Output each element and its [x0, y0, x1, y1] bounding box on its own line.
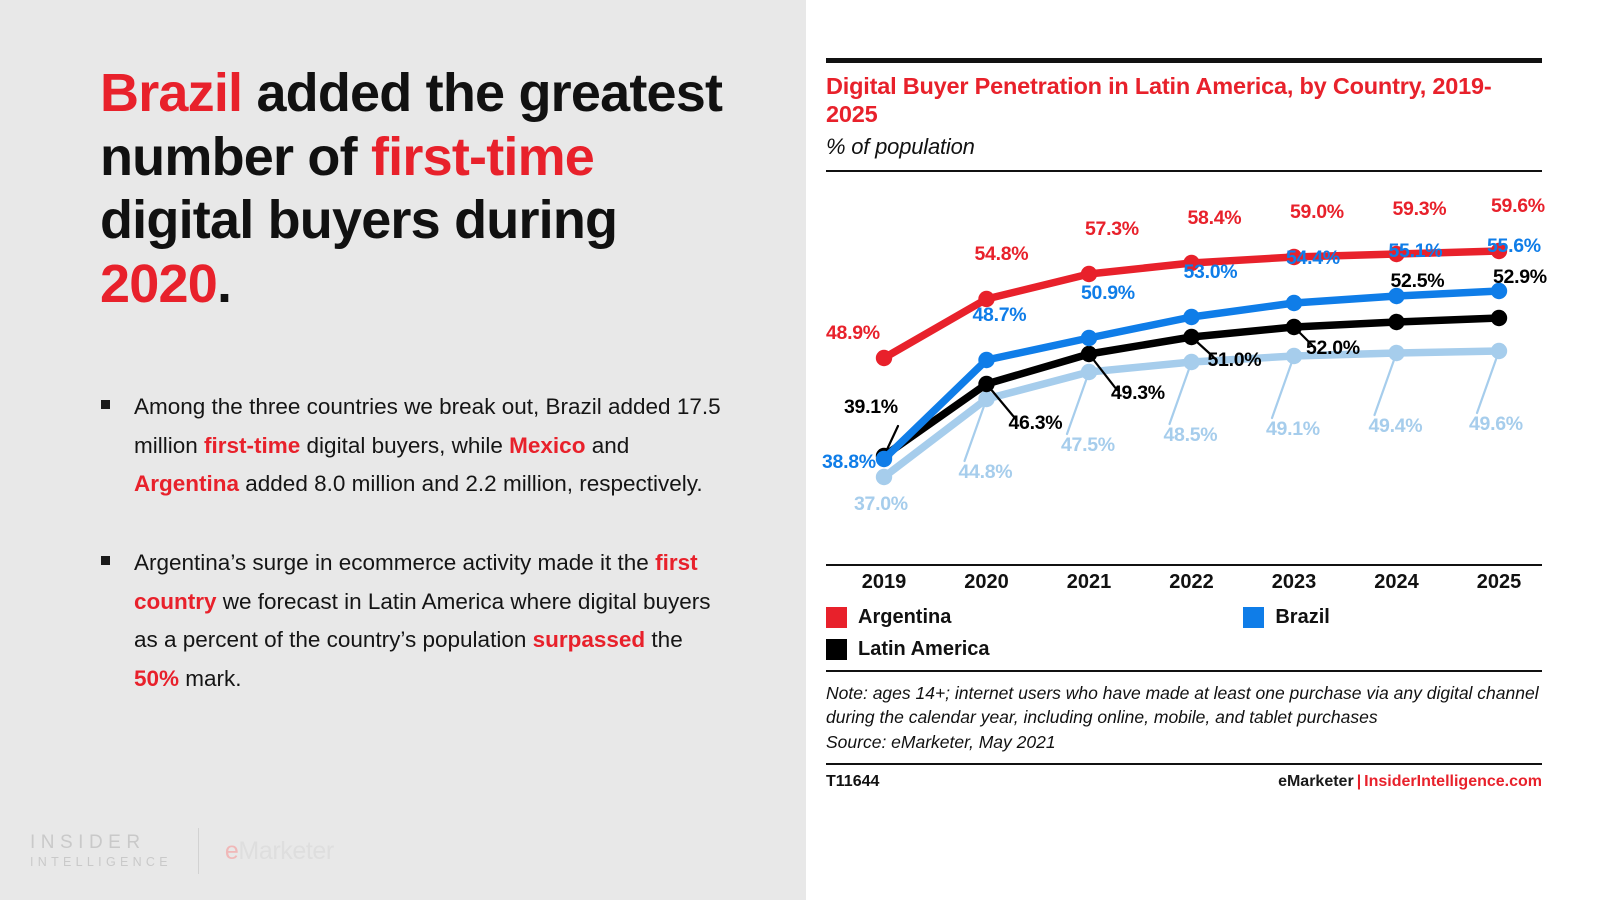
data-label: 59.3%	[1393, 198, 1447, 221]
data-label: 48.7%	[973, 304, 1027, 327]
data-label: 44.8%	[959, 461, 1013, 484]
notes-top-rule	[826, 670, 1542, 672]
attribution-separator: |	[1354, 773, 1364, 790]
data-label: 48.9%	[826, 322, 880, 345]
plain-text: Argentina’s surge in ecommerce activity …	[134, 550, 655, 575]
logo-divider	[198, 828, 199, 874]
data-label: 54.8%	[975, 243, 1029, 266]
left-commentary-panel: Brazil added the greatest number of firs…	[0, 0, 806, 900]
plain-text: and	[585, 433, 629, 458]
bullet-square-icon	[101, 400, 110, 409]
plain-text: mark.	[179, 666, 242, 691]
data-label: 55.6%	[1487, 235, 1541, 258]
legend-label: Argentina	[858, 606, 951, 629]
card-footer: T11644 eMarketer|InsiderIntelligence.com	[826, 773, 1542, 791]
data-label: 39.1%	[844, 396, 898, 419]
x-tick-2020: 2020	[964, 571, 1009, 594]
highlight-text: first-time	[204, 433, 300, 458]
page-title: Brazil added the greatest number of firs…	[100, 62, 750, 317]
chart-legend: ArgentinaBrazilMexicoLatin America	[826, 606, 1542, 661]
data-label: 49.4%	[1369, 415, 1423, 438]
slide-canvas: Brazil added the greatest number of firs…	[0, 0, 1600, 900]
legend-swatch-icon	[826, 639, 847, 660]
highlight-text: Argentina	[134, 471, 239, 496]
insider-intelligence-logo: INSIDER INTELLIGENCE eMarketer	[30, 828, 334, 874]
data-label: 38.8%	[822, 451, 876, 474]
chart-title: Digital Buyer Penetration in Latin Ameri…	[826, 73, 1542, 128]
data-label: 37.0%	[854, 493, 908, 516]
insider-intelligence-wordmark: INSIDER INTELLIGENCE	[30, 831, 172, 870]
x-tick-2023: 2023	[1272, 571, 1317, 594]
data-label: 52.5%	[1391, 270, 1445, 293]
legend-item-latin-america[interactable]: Latin America	[826, 638, 1118, 661]
plain-text: added 8.0 million and 2.2 million, respe…	[239, 471, 703, 496]
plain-text: digital buyers, while	[300, 433, 509, 458]
plain-text: digital buyers during	[100, 190, 617, 250]
highlight-text: first-time	[371, 127, 594, 187]
x-tick-2021: 2021	[1067, 571, 1112, 594]
x-tick-2025: 2025	[1477, 571, 1522, 594]
data-label: 48.5%	[1164, 424, 1218, 447]
data-label: 59.0%	[1290, 201, 1344, 224]
legend-row: Latin America	[826, 638, 1542, 661]
emarketer-rest: Marketer	[238, 837, 333, 865]
legend-item-brazil[interactable]: Brazil	[1243, 606, 1329, 629]
x-tick-2019: 2019	[862, 571, 907, 594]
plain-text: .	[217, 254, 231, 314]
highlight-text: Mexico	[509, 433, 585, 458]
plain-text: the	[645, 627, 683, 652]
x-axis-tick-labels: 2019202020212022202320242025	[826, 566, 1542, 600]
footer-top-rule	[826, 763, 1542, 765]
x-tick-2024: 2024	[1374, 571, 1419, 594]
bullet-square-icon	[101, 556, 110, 565]
attribution-domain[interactable]: InsiderIntelligence.com	[1364, 773, 1542, 790]
highlight-text: 50%	[134, 666, 179, 691]
attribution: eMarketer|InsiderIntelligence.com	[1278, 773, 1542, 791]
data-label: 55.1%	[1389, 240, 1443, 263]
data-label: 54.4%	[1286, 247, 1340, 270]
legend-swatch-icon	[1243, 607, 1264, 628]
list-item: Among the three countries we break out, …	[98, 388, 728, 504]
emarketer-wordmark: eMarketer	[225, 837, 334, 866]
highlight-text: surpassed	[533, 627, 646, 652]
logo-line-intelligence: INTELLIGENCE	[30, 855, 172, 871]
list-item: Argentina’s surge in ecommerce activity …	[98, 544, 728, 699]
legend-label: Brazil	[1275, 606, 1329, 629]
card-top-rule	[826, 58, 1542, 63]
attribution-emarketer: eMarketer	[1278, 773, 1354, 790]
data-label: 49.1%	[1266, 418, 1320, 441]
data-label: 50.9%	[1081, 282, 1135, 305]
chart-svg	[826, 172, 1542, 562]
table-id: T11644	[826, 773, 879, 791]
legend-row: ArgentinaBrazilMexico	[826, 606, 1542, 629]
data-label: 52.0%	[1306, 337, 1360, 360]
data-label: 59.6%	[1491, 195, 1545, 218]
legend-swatch-icon	[826, 607, 847, 628]
list-item-text: Among the three countries we break out, …	[134, 388, 728, 504]
x-tick-2022: 2022	[1169, 571, 1214, 594]
highlight-text: 2020	[100, 254, 217, 314]
logo-line-insider: INSIDER	[30, 831, 172, 855]
data-label: 49.3%	[1111, 382, 1165, 405]
chart-card: Digital Buyer Penetration in Latin Ameri…	[806, 0, 1600, 900]
data-label: 58.4%	[1188, 207, 1242, 230]
chart-notes: Note: ages 14+; internet users who have …	[826, 682, 1542, 754]
bullet-list: Among the three countries we break out, …	[98, 388, 728, 739]
data-label: 57.3%	[1085, 218, 1139, 241]
line-chart-plot: 48.9%54.8%57.3%58.4%59.0%59.3%59.6%38.8%…	[826, 172, 1542, 562]
note-text: Note: ages 14+; internet users who have …	[826, 682, 1542, 730]
list-item-text: Argentina’s surge in ecommerce activity …	[134, 544, 728, 699]
emarketer-e-glyph: e	[225, 837, 239, 865]
data-label: 49.6%	[1469, 413, 1523, 436]
source-text: Source: eMarketer, May 2021	[826, 731, 1542, 755]
data-label: 46.3%	[1009, 412, 1063, 435]
highlight-text: Brazil	[100, 63, 242, 123]
chart-subtitle: % of population	[826, 134, 1542, 160]
chart-card-inner: Digital Buyer Penetration in Latin Ameri…	[826, 58, 1542, 791]
data-label: 47.5%	[1061, 434, 1115, 457]
data-label: 53.0%	[1184, 261, 1238, 284]
data-label: 52.9%	[1493, 266, 1547, 289]
legend-label: Latin America	[858, 638, 990, 661]
legend-item-argentina[interactable]: Argentina	[826, 606, 951, 629]
data-label: 51.0%	[1208, 349, 1262, 372]
